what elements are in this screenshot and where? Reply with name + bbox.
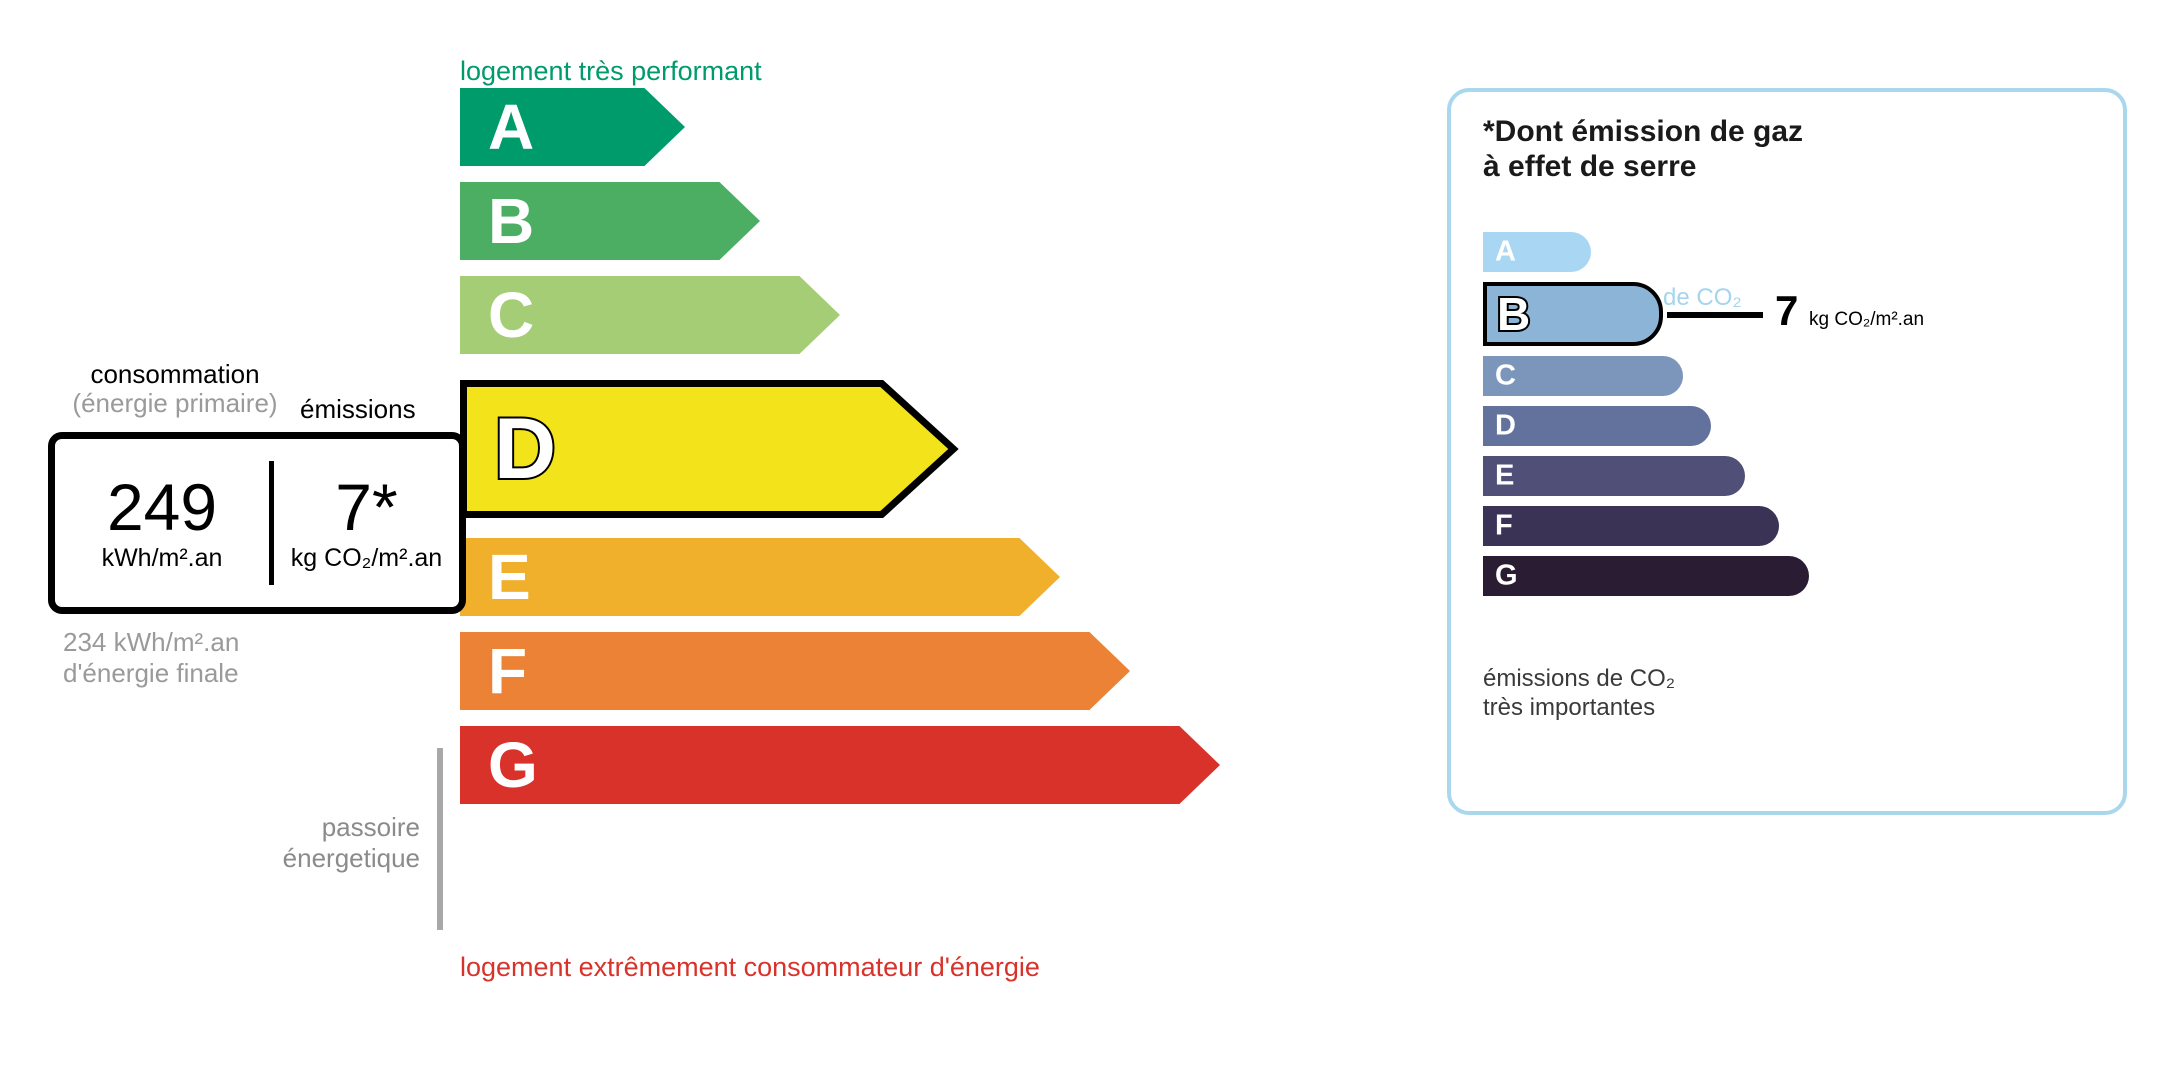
- energy-bar-f: F: [460, 632, 1140, 710]
- co2-bar-g: G: [1483, 556, 1809, 596]
- co2-bottom-line2: très importantes: [1483, 693, 1675, 722]
- energy-bar-b: B: [460, 182, 770, 260]
- co2-title-line2: à effet de serre: [1483, 149, 1803, 184]
- consumption-label-sub: (énergie primaire): [55, 389, 295, 418]
- co2-bar-letter-e: E: [1495, 462, 1514, 491]
- co2-selected-value: 7: [1775, 290, 1798, 332]
- co2-title-line1: *Dont émission de gaz: [1483, 114, 1803, 149]
- passoire-line2: énergetique: [240, 843, 420, 874]
- co2-panel-title: *Dont émission de gaz à effet de serre: [1483, 114, 1803, 185]
- co2-bar-e: E: [1483, 456, 1745, 496]
- energy-bar-a: A: [460, 88, 695, 166]
- energy-bar-letter-g: G: [488, 733, 538, 797]
- consumption-value: 249: [107, 473, 217, 542]
- consumption-emissions-box: 249 kWh/m².an 7* kg CO₂/m².an: [48, 432, 466, 614]
- energy-bar-letter-f: F: [488, 639, 527, 703]
- co2-bottom-caption: émissions de CO₂ très importantes: [1483, 664, 1675, 723]
- energy-bar-shape-f: [460, 632, 1142, 712]
- energy-bar-letter-d: D: [494, 406, 556, 492]
- consumption-unit: kWh/m².an: [102, 544, 223, 573]
- energy-bar-shape-e: [460, 538, 1072, 618]
- emissions-cell: 7* kg CO₂/m².an: [274, 439, 459, 607]
- co2-bar-b: B: [1483, 282, 1663, 346]
- energy-bottom-caption: logement extrêmement consommateur d'éner…: [460, 952, 1040, 983]
- energy-bar-letter-e: E: [488, 545, 531, 609]
- energy-bar-d: D: [460, 380, 960, 518]
- passoire-label: passoire énergetique: [240, 812, 420, 874]
- co2-bar-letter-a: A: [1495, 238, 1516, 267]
- co2-bar-letter-f: F: [1495, 512, 1513, 541]
- co2-selected-unit: kg CO₂/m².an: [1809, 309, 1924, 331]
- energy-performance-panel: logement très performant ABCDEFG logemen…: [0, 0, 1400, 1079]
- energy-bar-g: G: [460, 726, 1230, 804]
- final-energy-text: d'énergie finale: [63, 658, 239, 689]
- emissions-unit: kg CO₂/m².an: [291, 544, 442, 573]
- passoire-bracket: [437, 748, 443, 930]
- co2-bar-letter-c: C: [1495, 362, 1516, 391]
- co2-bar-letter-g: G: [1495, 562, 1518, 591]
- co2-bottom-line1: émissions de CO₂: [1483, 664, 1675, 693]
- emissions-value: 7*: [335, 473, 397, 542]
- co2-bar-letter-b: B: [1497, 291, 1530, 337]
- passoire-line1: passoire: [240, 812, 420, 843]
- co2-leader-line: [1667, 312, 1763, 318]
- energy-bar-letter-a: A: [488, 95, 534, 159]
- co2-bar-letter-d: D: [1495, 412, 1516, 441]
- consumption-label: consommation (énergie primaire): [55, 360, 295, 418]
- dpe-label-root: logement très performant ABCDEFG logemen…: [0, 0, 2170, 1079]
- consumption-label-main: consommation: [55, 360, 295, 389]
- energy-bar-shape-g: [460, 726, 1232, 806]
- energy-bar-e: E: [460, 538, 1070, 616]
- co2-bar-c: C: [1483, 356, 1683, 396]
- energy-bar-c: C: [460, 276, 850, 354]
- energy-top-caption: logement très performant: [460, 56, 762, 87]
- co2-bar-a: A: [1483, 232, 1591, 272]
- final-energy-value: 234 kWh/m².an: [63, 627, 239, 658]
- consumption-cell: 249 kWh/m².an: [55, 439, 269, 607]
- emissions-label: émissions: [300, 394, 416, 425]
- co2-bar-f: F: [1483, 506, 1779, 546]
- co2-emissions-panel: *Dont émission de gaz à effet de serre p…: [1447, 88, 2127, 815]
- co2-bar-d: D: [1483, 406, 1711, 446]
- final-energy-note: 234 kWh/m².an d'énergie finale: [63, 627, 239, 689]
- energy-bar-letter-b: B: [488, 189, 534, 253]
- energy-bar-letter-c: C: [488, 283, 534, 347]
